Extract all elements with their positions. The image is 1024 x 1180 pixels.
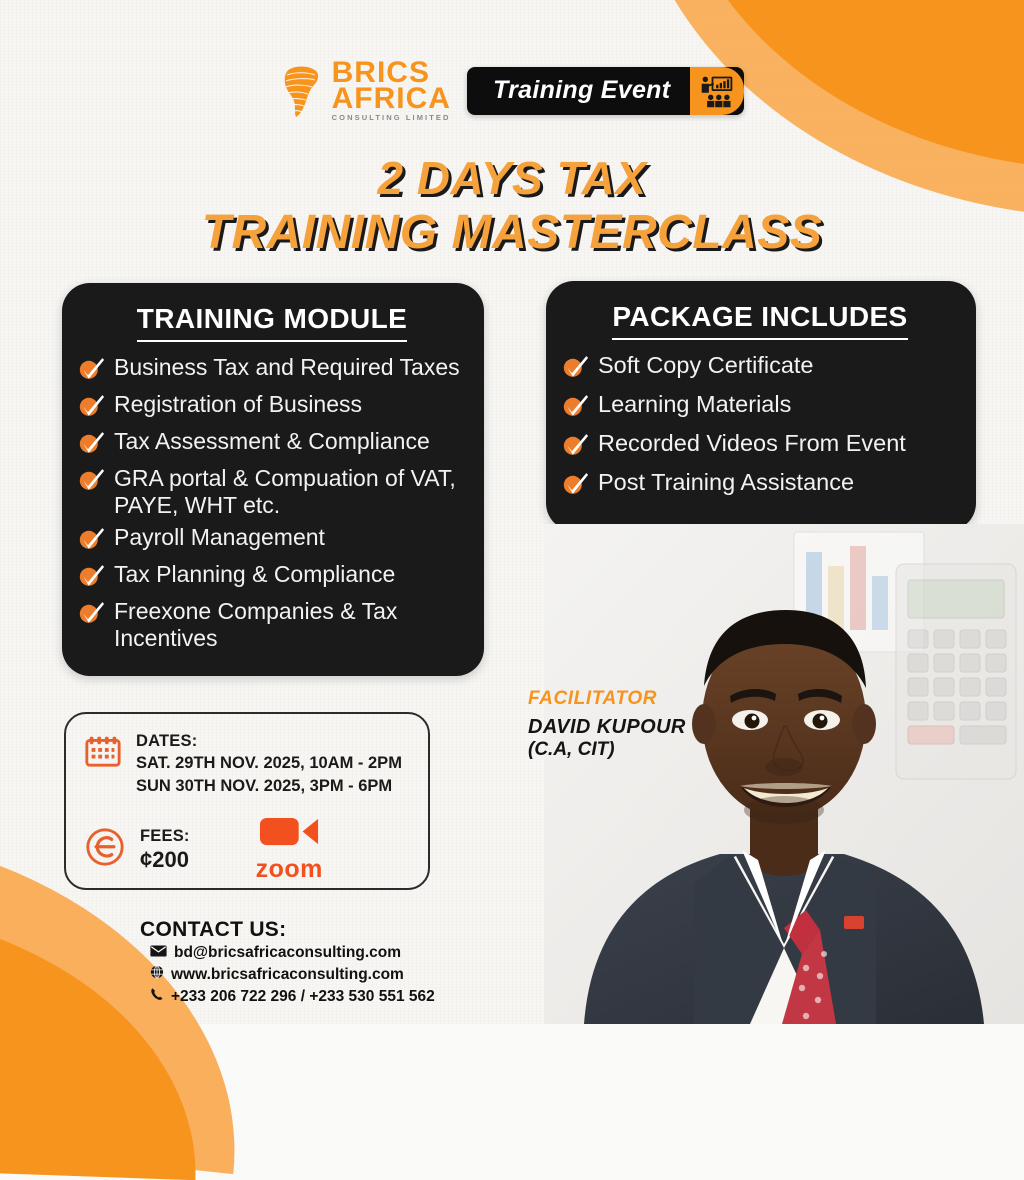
dates-label: DATES: [136,730,402,752]
list-item-label: Payroll Management [114,524,325,551]
brand-logo: BRICS AFRICA CONSULTING LIMITED [280,60,451,121]
check-icon [78,467,105,496]
list-item: Tax Planning & Compliance [78,561,466,592]
facilitator-name: DAVID KUPOUR [528,716,686,739]
check-icon [78,393,105,422]
package-includes-panel: PACKAGE INCLUDES Soft Copy Certificate L… [546,281,976,531]
zoom-logo: zoom [256,815,323,884]
presentation-training-icon [690,67,744,115]
africa-map-icon [280,63,328,119]
list-item: Registration of Business [78,391,466,422]
check-icon [562,432,589,461]
cedi-coin-icon [84,826,126,873]
zoom-wordmark: zoom [256,855,323,884]
list-item: Freexone Companies & Tax Incentives [78,598,466,651]
list-item: GRA portal & Compuation of VAT, PAYE, WH… [78,465,466,518]
event-details-card: DATES: SAT. 29TH NOV. 2025, 10AM - 2PM S… [64,712,430,890]
list-item-label: Post Training Assistance [598,469,854,496]
dates-row: DATES: SAT. 29TH NOV. 2025, 10AM - 2PM S… [84,730,410,797]
check-icon [562,393,589,422]
training-module-list: Business Tax and Required Taxes Registra… [78,354,466,652]
check-icon [78,563,105,592]
training-event-badge: Training Event [467,67,744,115]
check-icon [78,430,105,459]
check-icon [78,526,105,555]
contact-website-row[interactable]: www.bricsafricaconsulting.com [150,964,435,986]
list-item-label: Learning Materials [598,391,791,418]
contact-website: www.bricsafricaconsulting.com [171,964,404,986]
title-line-1: 2 DAYS TAX [0,152,1024,205]
list-item: Post Training Assistance [562,469,958,500]
training-event-label: Training Event [467,67,690,115]
calendar-icon [84,730,122,773]
list-item-label: Soft Copy Certificate [598,352,814,379]
list-item: Recorded Videos From Event [562,430,958,461]
package-includes-heading: PACKAGE INCLUDES [612,301,907,340]
contact-phones: +233 206 722 296 / +233 530 551 562 [171,986,435,1008]
fees-label: FEES: [140,825,190,847]
brand-wordmark: BRICS AFRICA CONSULTING LIMITED [332,60,451,121]
package-includes-list: Soft Copy Certificate Learning Materials… [562,352,958,500]
phone-icon [150,986,164,1008]
envelope-icon [150,942,167,964]
list-item-label: Tax Planning & Compliance [114,561,395,588]
list-item: Payroll Management [78,524,466,555]
facilitator-label: FACILITATOR [528,688,686,710]
list-item-label: Business Tax and Required Taxes [114,354,460,381]
list-item-label: Freexone Companies & Tax Incentives [114,598,466,651]
brand-name-line2: AFRICA [332,86,451,112]
list-item-label: Recorded Videos From Event [598,430,906,457]
check-icon [562,471,589,500]
contact-email: bd@bricsafricaconsulting.com [174,942,401,964]
contact-block: CONTACT US: bd@bricsafricaconsulting.com… [140,918,435,1008]
contact-email-row[interactable]: bd@bricsafricaconsulting.com [150,942,435,964]
contact-title: CONTACT US: [140,918,435,942]
list-item: Business Tax and Required Taxes [78,354,466,385]
date-line-2: SUN 30TH NOV. 2025, 3PM - 6PM [136,775,402,797]
facilitator-photo [544,524,1024,1024]
check-icon [78,600,105,629]
list-item: Tax Assessment & Compliance [78,428,466,459]
list-item: Learning Materials [562,391,958,422]
title-line-2: TRAINING MASTERCLASS [0,205,1024,261]
list-item-label: Tax Assessment & Compliance [114,428,430,455]
list-item-label: GRA portal & Compuation of VAT, PAYE, WH… [114,465,466,518]
brand-tagline: CONSULTING LIMITED [332,115,451,121]
header: BRICS AFRICA CONSULTING LIMITED Training… [0,60,1024,121]
event-title: 2 DAYS TAX TRAINING MASTERCLASS [0,152,1024,261]
video-camera-icon [258,815,320,853]
training-module-panel: TRAINING MODULE Business Tax and Require… [62,283,484,676]
facilitator-credentials: (C.A, CIT) [528,739,686,761]
list-item: Soft Copy Certificate [562,352,958,383]
facilitator-block: FACILITATOR DAVID KUPOUR (C.A, CIT) [528,688,686,761]
fees-row: FEES: ¢200 zoom [84,815,410,884]
contact-phone-row[interactable]: +233 206 722 296 / +233 530 551 562 [150,986,435,1008]
check-icon [78,356,105,385]
globe-icon [150,964,164,986]
list-item-label: Registration of Business [114,391,362,418]
check-icon [562,354,589,383]
fees-amount: ¢200 [140,847,190,873]
training-module-heading: TRAINING MODULE [137,303,407,342]
date-line-1: SAT. 29TH NOV. 2025, 10AM - 2PM [136,752,402,774]
